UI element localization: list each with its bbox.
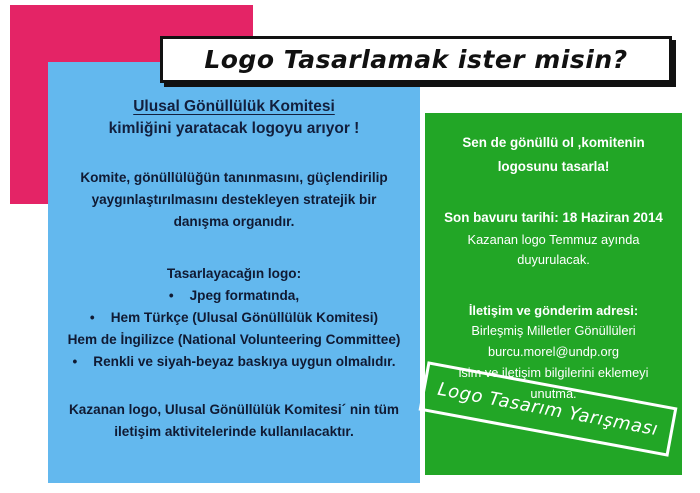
- blue-info-panel: Ulusal Gönüllülük Komitesi kimliğini yar…: [48, 62, 420, 483]
- list-item: Hem Türkçe (Ulusal Gönüllülük Komitesi): [62, 307, 406, 329]
- logo-requirements-intro: Tasarlayacağın logo:: [62, 263, 406, 285]
- poster-canvas: Ulusal Gönüllülük Komitesi kimliğini yar…: [0, 0, 700, 493]
- logo-requirements-list: Jpeg formatında, Hem Türkçe (Ulusal Gönü…: [62, 285, 406, 373]
- title-banner: Logo Tasarlamak ister misin?: [160, 36, 672, 83]
- winner-usage-note: Kazanan logo, Ulusal Gönüllülük Komitesi…: [62, 399, 406, 443]
- call-to-action: Sen de gönüllü ol ,komitenin logosunu ta…: [435, 131, 672, 179]
- contact-email[interactable]: burcu.morel@undp.org: [435, 342, 672, 363]
- contact-heading: İletişim ve gönderim adresi:: [435, 301, 672, 321]
- committee-tagline: kimliğini yaratacak logoyu arıyor !: [62, 118, 406, 140]
- announcement-line2: duyurulacak.: [435, 250, 672, 271]
- contact-organization: Birleşmiş Milletler Gönüllüleri: [435, 321, 672, 342]
- committee-name: Ulusal Gönüllülük Komitesi: [62, 96, 406, 118]
- deadline-text: Son bavuru tarihi: 18 Haziran 2014: [435, 207, 672, 230]
- blue-panel-heading: Ulusal Gönüllülük Komitesi kimliğini yar…: [62, 96, 406, 141]
- list-item: Renkli ve siyah-beyaz baskıya uygun olma…: [62, 351, 406, 373]
- list-item: Jpeg formatında,: [62, 285, 406, 307]
- list-item: Hem de İngilizce (National Volunteering …: [62, 329, 406, 351]
- call-to-action-line1: Sen de gönüllü ol ,komitenin: [435, 131, 672, 155]
- committee-description: Komite, gönüllülüğün tanınmasını, güçlen…: [62, 167, 406, 233]
- announcement-line1: Kazanan logo Temmuz ayında: [435, 230, 672, 251]
- page-title: Logo Tasarlamak ister misin?: [204, 45, 627, 74]
- call-to-action-line2: logosunu tasarla!: [435, 155, 672, 179]
